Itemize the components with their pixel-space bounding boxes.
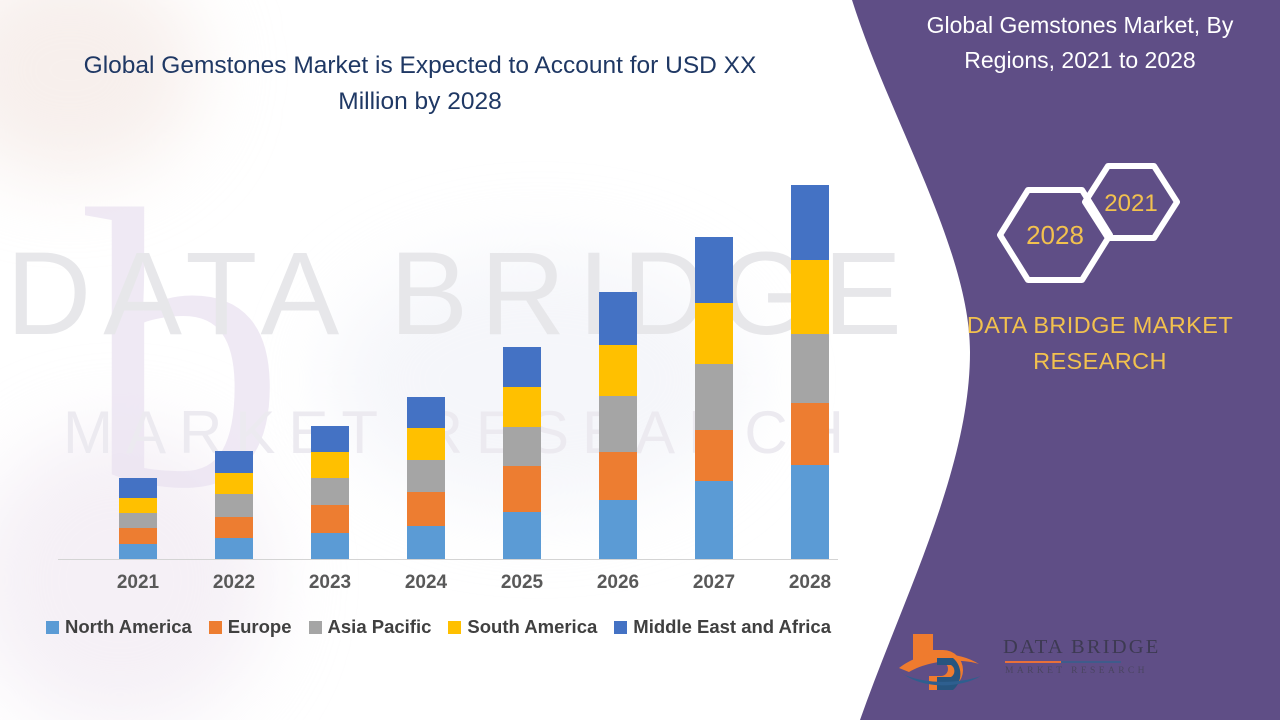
bar-segment bbox=[119, 528, 157, 544]
chart-panel: Global Gemstones Market is Expected to A… bbox=[0, 0, 860, 720]
legend-swatch-icon bbox=[46, 621, 59, 634]
x-label-2021: 2021 bbox=[108, 572, 168, 594]
bar-segment bbox=[503, 512, 541, 559]
legend-swatch-icon bbox=[448, 621, 461, 634]
legend-label: Europe bbox=[228, 616, 292, 638]
bar-2027 bbox=[695, 237, 733, 559]
bar-segment bbox=[503, 427, 541, 466]
bar-2021 bbox=[119, 478, 157, 559]
bar-segment bbox=[215, 451, 253, 473]
logo-mark bbox=[895, 628, 1000, 690]
bar-2026 bbox=[599, 292, 637, 559]
bar-segment bbox=[599, 452, 637, 500]
x-axis-labels: 20212022202320242025202620272028 bbox=[40, 572, 830, 602]
bar-segment bbox=[791, 260, 829, 334]
hexagon-2021-label: 2021 bbox=[1104, 190, 1157, 217]
logo-rule-blue bbox=[1061, 661, 1121, 663]
legend-item-south-america[interactable]: South America bbox=[448, 616, 597, 638]
x-axis-line bbox=[58, 559, 838, 560]
stacked-bar-chart bbox=[40, 150, 830, 560]
bar-segment bbox=[599, 292, 637, 345]
bar-segment bbox=[311, 452, 349, 478]
brand-name: DATA BRIDGE MARKET RESEARCH bbox=[935, 308, 1265, 380]
legend-item-north-america[interactable]: North America bbox=[46, 616, 192, 638]
bar-segment bbox=[695, 481, 733, 559]
bar-segment bbox=[215, 517, 253, 538]
bar-segment bbox=[119, 513, 157, 528]
bar-segment bbox=[407, 397, 445, 428]
chart-legend: North AmericaEuropeAsia PacificSouth Ame… bbox=[46, 616, 836, 638]
bar-segment bbox=[215, 473, 253, 494]
bar-2022 bbox=[215, 451, 253, 559]
bar-segment bbox=[791, 185, 829, 260]
bar-segment bbox=[407, 526, 445, 559]
panel-title: Global Gemstones Market, By Regions, 202… bbox=[890, 8, 1270, 78]
x-label-2022: 2022 bbox=[204, 572, 264, 594]
bar-segment bbox=[119, 498, 157, 513]
bar-segment bbox=[311, 478, 349, 505]
logo-tagline: MARKET RESEARCH bbox=[1005, 666, 1148, 676]
legend-label: Asia Pacific bbox=[328, 616, 432, 638]
legend-item-asia-pacific[interactable]: Asia Pacific bbox=[309, 616, 432, 638]
x-label-2026: 2026 bbox=[588, 572, 648, 594]
bar-2028 bbox=[791, 185, 829, 559]
bar-segment bbox=[695, 303, 733, 364]
bar-segment bbox=[407, 428, 445, 460]
hexagon-badges: 2028 2021 bbox=[970, 140, 1220, 310]
legend-label: South America bbox=[467, 616, 597, 638]
bar-segment bbox=[119, 478, 157, 498]
bar-segment bbox=[503, 466, 541, 512]
legend-item-europe[interactable]: Europe bbox=[209, 616, 292, 638]
brand-panel-content: Global Gemstones Market, By Regions, 202… bbox=[830, 0, 1280, 720]
bar-segment bbox=[791, 465, 829, 559]
legend-label: North America bbox=[65, 616, 192, 638]
bar-segment bbox=[695, 430, 733, 481]
bar-segment bbox=[791, 403, 829, 465]
logo-rule-orange bbox=[1005, 661, 1061, 663]
company-logo: DATA BRIDGE MARKET RESEARCH bbox=[895, 628, 1125, 698]
bar-segment bbox=[215, 494, 253, 517]
bar-segment bbox=[119, 544, 157, 559]
bar-segment bbox=[311, 533, 349, 559]
legend-swatch-icon bbox=[309, 621, 322, 634]
bar-2023 bbox=[311, 426, 349, 559]
x-label-2024: 2024 bbox=[396, 572, 456, 594]
bar-segment bbox=[311, 426, 349, 452]
bar-segment bbox=[599, 396, 637, 452]
bar-segment bbox=[599, 500, 637, 559]
bar-segment bbox=[599, 345, 637, 397]
x-label-2027: 2027 bbox=[684, 572, 744, 594]
bar-segment bbox=[791, 334, 829, 404]
infographic-canvas: b DATA BRIDGE MARKET RESEARCH Global Gem… bbox=[0, 0, 1280, 720]
bar-segment bbox=[503, 347, 541, 388]
legend-swatch-icon bbox=[614, 621, 627, 634]
bar-segment bbox=[407, 492, 445, 526]
x-label-2023: 2023 bbox=[300, 572, 360, 594]
chart-title: Global Gemstones Market is Expected to A… bbox=[60, 48, 780, 120]
bar-segment bbox=[407, 460, 445, 492]
bar-segment bbox=[311, 505, 349, 533]
bar-2024 bbox=[407, 397, 445, 559]
brand-panel: Global Gemstones Market, By Regions, 202… bbox=[830, 0, 1280, 720]
bar-segment bbox=[215, 538, 253, 559]
legend-swatch-icon bbox=[209, 621, 222, 634]
legend-item-middle-east-and-africa[interactable]: Middle East and Africa bbox=[614, 616, 831, 638]
bar-2025 bbox=[503, 347, 541, 559]
legend-label: Middle East and Africa bbox=[633, 616, 831, 638]
bar-segment bbox=[695, 364, 733, 431]
hexagon-2028-label: 2028 bbox=[1026, 220, 1084, 250]
logo-wordmark: DATA BRIDGE bbox=[1003, 636, 1161, 659]
bar-segment bbox=[695, 237, 733, 303]
x-label-2025: 2025 bbox=[492, 572, 552, 594]
bar-segment bbox=[503, 387, 541, 427]
